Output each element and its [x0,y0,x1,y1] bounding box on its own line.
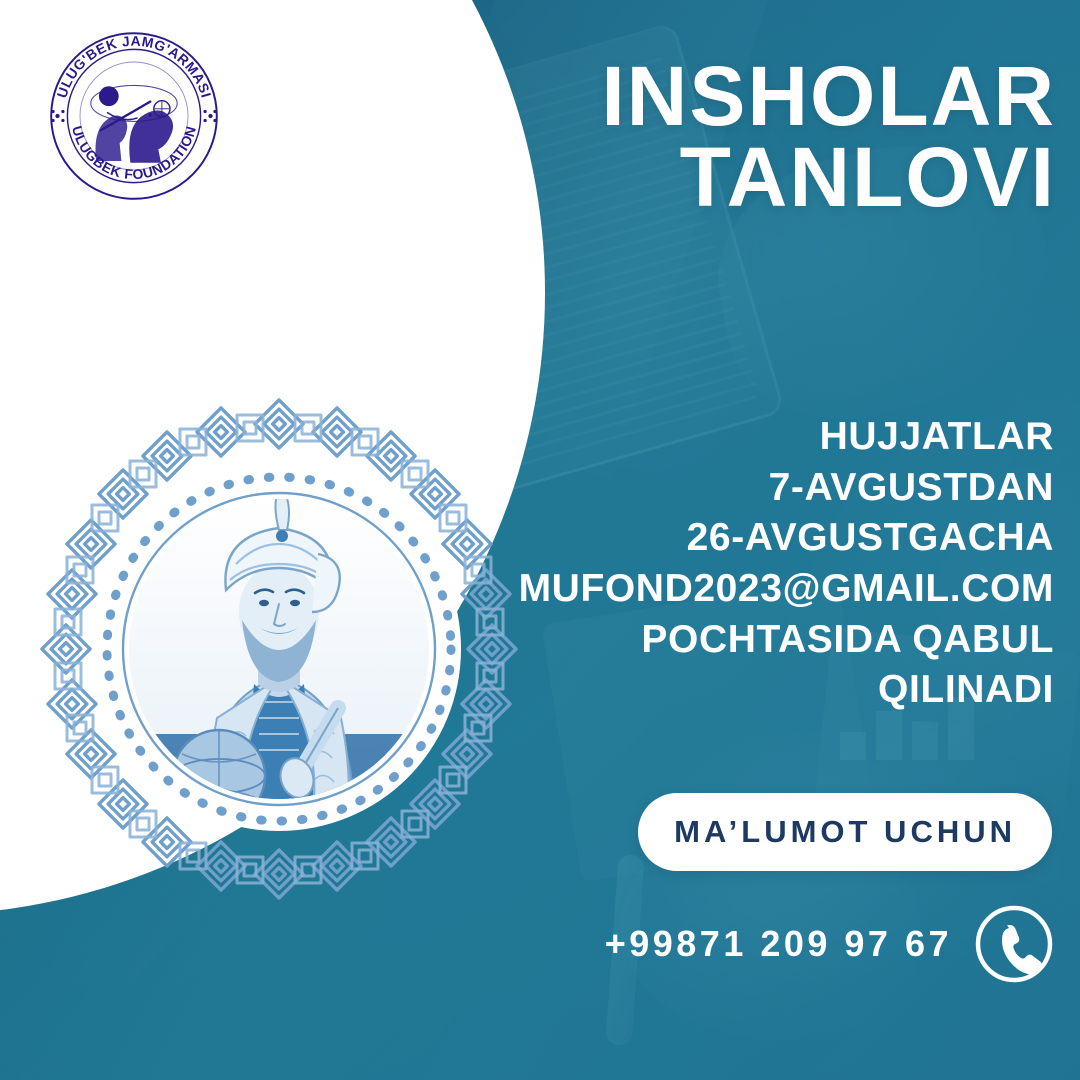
title-line-2: TANLOVI [356,137,1056,218]
info-line-email[interactable]: MUFOND2023@GMAIL.COM [274,564,1054,615]
info-line-start-date: 7-AVGUSTDAN [274,463,1054,514]
info-cta-label: MA’LUMOT UCHUN [674,814,1016,850]
poster-canvas: ULUG'BEK JAMG'ARMASI ULUGBEK FOUNDATION [0,0,1080,1080]
phone-icon[interactable] [974,904,1054,984]
svg-text:ULUG'BEK JAMG'ARMASI: ULUG'BEK JAMG'ARMASI [53,33,214,100]
info-line-accepted-2: QILINADI [274,665,1054,716]
contact-row[interactable]: +99871 209 97 67 [605,904,1054,984]
info-line-accepted-1: POCHTASIDA QABUL [274,615,1054,666]
page-title: INSHOLAR TANLOVI [356,56,1056,219]
info-block: HUJJATLAR 7-AVGUSTDAN 26-AVGUSTGACHA MUF… [274,412,1054,716]
info-line-documents: HUJJATLAR [274,412,1054,463]
title-line-1: INSHOLAR [356,56,1056,137]
contact-phone-number: +99871 209 97 67 [605,923,952,965]
logo-arc-top-text: ULUG'BEK JAMG'ARMASI [53,33,214,100]
info-line-end-date: 26-AVGUSTGACHA [274,513,1054,564]
info-cta-button[interactable]: MA’LUMOT UCHUN [638,793,1052,871]
ulugbek-foundation-logo: ULUG'BEK JAMG'ARMASI ULUGBEK FOUNDATION [44,26,224,206]
